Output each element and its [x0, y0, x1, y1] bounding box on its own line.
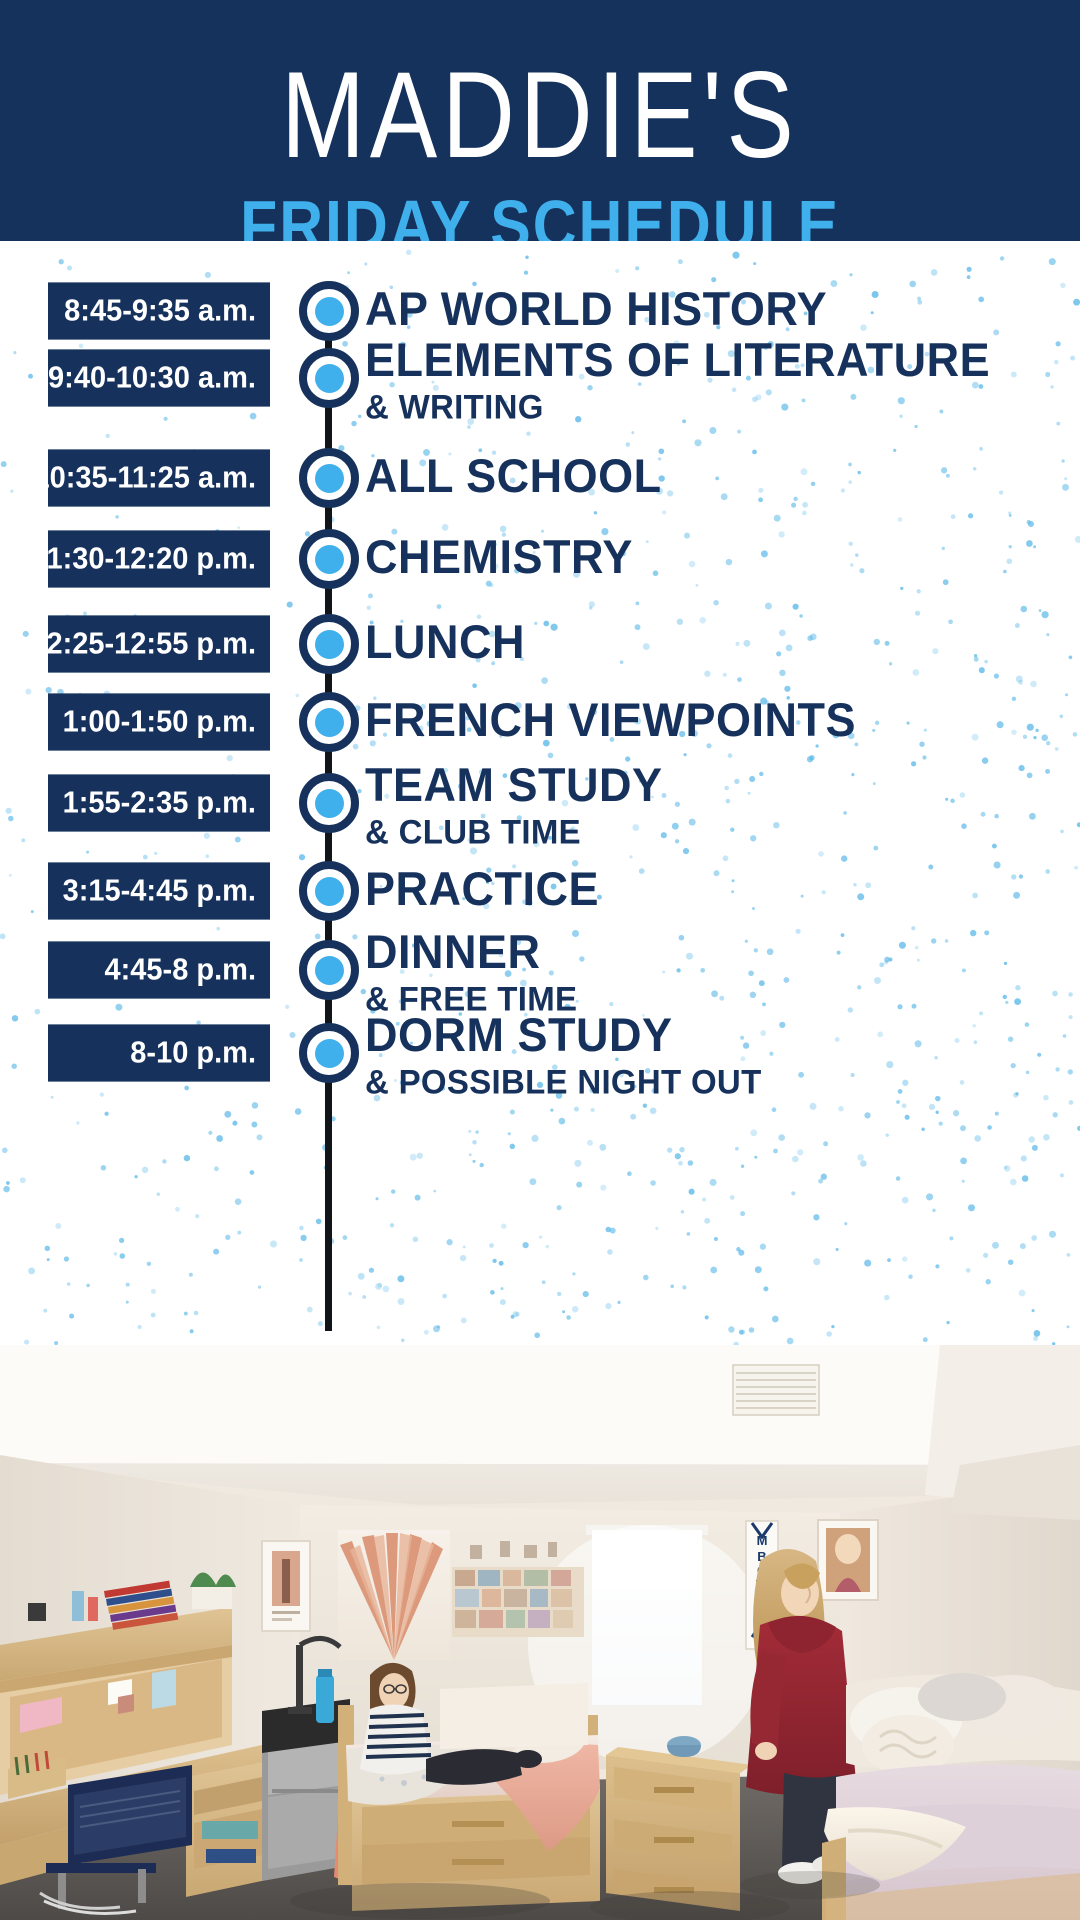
time-pill: 11:30-12:20 p.m. — [48, 530, 270, 587]
timeline-marker-icon — [299, 529, 359, 589]
activity-block: ALL SCHOOL — [365, 452, 1070, 497]
activity-block: AP WORLD HISTORY — [365, 285, 1070, 330]
time-pill: 3:15-4:45 p.m. — [48, 862, 270, 919]
activity-block: FRENCH VIEWPOINTS — [365, 696, 1070, 741]
timeline-marker-core — [315, 464, 344, 493]
header-banner: MADDIE'S FRIDAY SCHEDULE — [0, 0, 1080, 241]
activity-block: ELEMENTS OF LITERATURE& WRITING — [365, 336, 1070, 422]
activity-subtitle: & CLUB TIME — [365, 814, 1070, 849]
schedule-row: 3:15-4:45 p.m.PRACTICE — [0, 851, 1080, 931]
dorm-room-photo: M B O W 22 — [0, 1345, 1080, 1920]
schedule-row: 9:40-10:30 a.m.ELEMENTS OF LITERATURE& W… — [0, 338, 1080, 418]
timeline-marker-icon — [299, 940, 359, 1000]
activity-subtitle: & WRITING — [365, 389, 1070, 424]
activity-title: PRACTICE — [365, 865, 1070, 912]
activity-title: ALL SCHOOL — [365, 452, 1070, 499]
time-pill: 10:35-11:25 a.m. — [48, 449, 270, 506]
time-pill: 4:45-8 p.m. — [48, 941, 270, 998]
timeline-marker-core — [315, 1039, 344, 1068]
timeline-marker-core — [315, 545, 344, 574]
activity-title: FRENCH VIEWPOINTS — [365, 696, 1070, 743]
timeline-marker-core — [315, 297, 344, 326]
activity-block: DINNER& FREE TIME — [365, 928, 1070, 1014]
time-pill: 8:45-9:35 a.m. — [48, 282, 270, 339]
timeline-marker-icon — [299, 614, 359, 674]
timeline-marker-icon — [299, 692, 359, 752]
timeline-marker-core — [315, 630, 344, 659]
timeline-marker-core — [315, 877, 344, 906]
time-pill: 8-10 p.m. — [48, 1024, 270, 1081]
activity-title: ELEMENTS OF LITERATURE — [365, 336, 1070, 383]
timeline-marker-core — [315, 956, 344, 985]
timeline-marker-icon — [299, 773, 359, 833]
page-title: MADDIE'S — [281, 58, 799, 176]
activity-title: LUNCH — [365, 618, 1070, 665]
time-pill: 1:55-2:35 p.m. — [48, 774, 270, 831]
schedule-panel: 8:45-9:35 a.m.AP WORLD HISTORY9:40-10:30… — [0, 241, 1080, 1345]
timeline-marker-icon — [299, 281, 359, 341]
timeline-marker-icon — [299, 861, 359, 921]
activity-block: DORM STUDY& POSSIBLE NIGHT OUT — [365, 1011, 1070, 1097]
activity-title: TEAM STUDY — [365, 761, 1070, 808]
timeline-marker-core — [315, 364, 344, 393]
timeline-marker-icon — [299, 1023, 359, 1083]
schedule-row: 11:30-12:20 p.m.CHEMISTRY — [0, 519, 1080, 599]
schedule-row: 1:55-2:35 p.m.TEAM STUDY& CLUB TIME — [0, 763, 1080, 843]
activity-block: TEAM STUDY& CLUB TIME — [365, 761, 1070, 847]
schedule-row: 10:35-11:25 a.m.ALL SCHOOL — [0, 438, 1080, 518]
schedule-row: 8-10 p.m.DORM STUDY& POSSIBLE NIGHT OUT — [0, 1013, 1080, 1093]
activity-title: DINNER — [365, 928, 1070, 975]
schedule-row: 12:25-12:55 p.m.LUNCH — [0, 604, 1080, 684]
time-pill: 9:40-10:30 a.m. — [48, 349, 270, 406]
timeline-marker-icon — [299, 448, 359, 508]
timeline-marker-icon — [299, 348, 359, 408]
schedule-rows: 8:45-9:35 a.m.AP WORLD HISTORY9:40-10:30… — [0, 241, 1080, 1345]
activity-title: CHEMISTRY — [365, 533, 1070, 580]
activity-title: AP WORLD HISTORY — [365, 285, 1070, 332]
activity-subtitle: & POSSIBLE NIGHT OUT — [365, 1064, 1070, 1099]
time-pill: 1:00-1:50 p.m. — [48, 693, 270, 750]
activity-block: CHEMISTRY — [365, 533, 1070, 578]
activity-title: DORM STUDY — [365, 1011, 1070, 1058]
schedule-row: 4:45-8 p.m.DINNER& FREE TIME — [0, 930, 1080, 1010]
schedule-row: 1:00-1:50 p.m.FRENCH VIEWPOINTS — [0, 682, 1080, 762]
timeline-marker-core — [315, 789, 344, 818]
activity-block: PRACTICE — [365, 865, 1070, 910]
activity-block: LUNCH — [365, 618, 1070, 663]
timeline-marker-core — [315, 708, 344, 737]
time-pill: 12:25-12:55 p.m. — [48, 615, 270, 672]
